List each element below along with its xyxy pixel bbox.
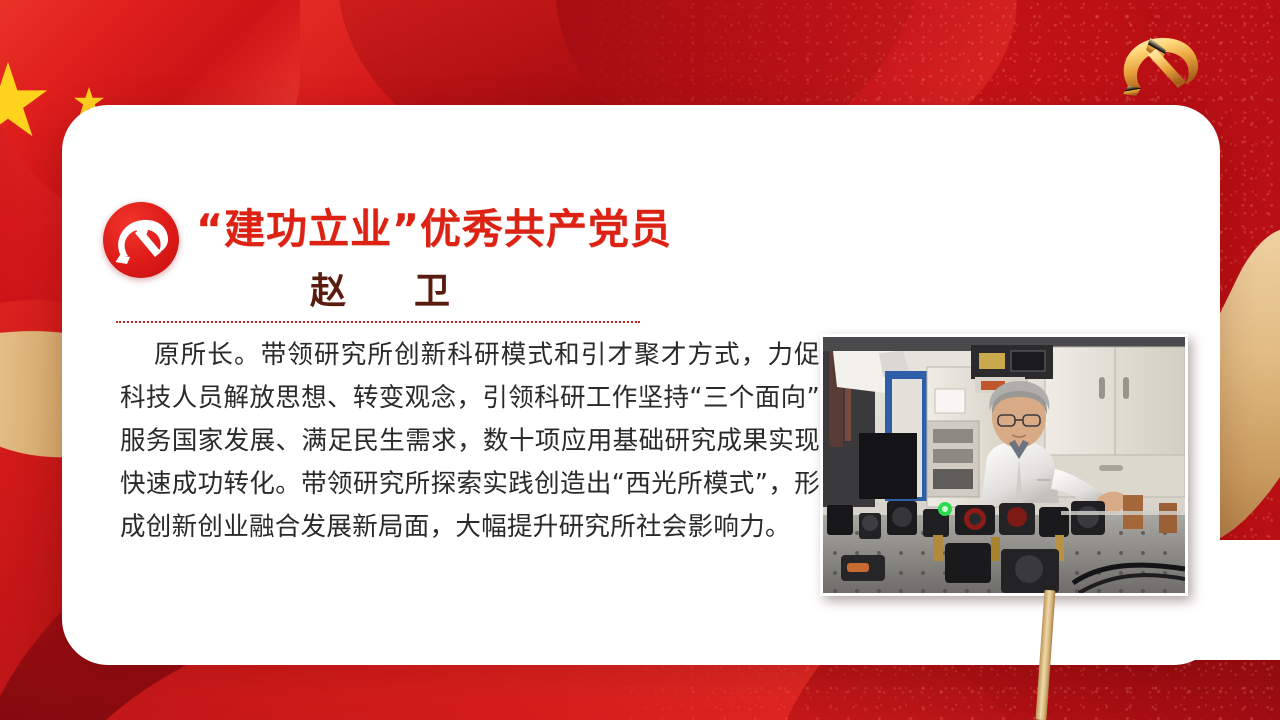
title-divider xyxy=(116,321,640,323)
person-photo xyxy=(820,334,1188,596)
gold-hammer-sickle-emblem-icon xyxy=(1108,22,1212,108)
page-title: “建功立业”优秀共产党员 xyxy=(196,206,756,253)
biography-paragraph: 原所长。带领研究所创新科研模式和引才聚才方式，力促科技人员解放思想、转变观念，引… xyxy=(120,334,820,549)
person-name: 赵 卫 xyxy=(115,262,645,314)
lab-photo-illustration xyxy=(823,337,1185,593)
slide-root: “建功立业”优秀共产党员 赵 卫 原所长。带领研究所创新科研模式和引才聚才方式，… xyxy=(0,0,1280,720)
